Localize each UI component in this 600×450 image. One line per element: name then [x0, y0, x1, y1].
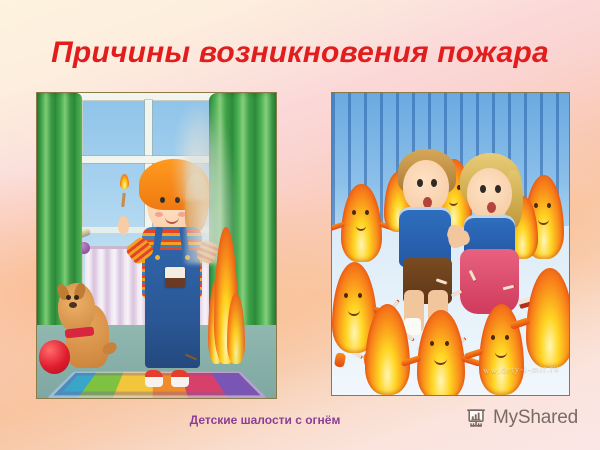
- flame-eye-right: [358, 293, 362, 298]
- flame-mouth: [356, 224, 366, 231]
- flame-eye-left: [430, 341, 434, 346]
- presentation-slide: Причины возникновения пожара: [0, 0, 600, 450]
- boy-sock-left: [404, 318, 421, 336]
- boy-eye-right: [431, 179, 437, 187]
- dog-eye-left: [66, 295, 71, 300]
- red-ball: [39, 340, 70, 374]
- image-children-surrounded-by-flames: ww.dety-i-mir.ru: [331, 92, 570, 396]
- right-scene: ww.dety-i-mir.ru: [332, 93, 569, 395]
- page-title: Причины возникновения пожара: [0, 36, 600, 70]
- flame-eye-right: [445, 341, 449, 346]
- myshared-watermark[interactable]: MyShared: [466, 407, 578, 429]
- matchbox-icon: [165, 267, 185, 286]
- flame-eye-left: [344, 293, 348, 298]
- image-boy-lighting-match-near-curtain: [36, 92, 277, 399]
- girl-pink-skirt: [460, 249, 518, 314]
- myshared-logo-text: MyShared: [493, 407, 578, 429]
- burning-curtain-fire-icon: [207, 227, 248, 364]
- boy-mouth: [423, 197, 432, 208]
- dog-nose: [69, 302, 77, 308]
- flame-eye-left: [352, 210, 356, 215]
- boy-overall-button-left: [155, 255, 160, 260]
- boy-shoe-left: [145, 370, 163, 387]
- flame-eye-left: [534, 203, 538, 208]
- flame-mouth: [434, 358, 446, 365]
- flame-eye-right: [365, 210, 369, 215]
- dog-eye-right: [74, 295, 79, 300]
- flame-eye-right: [547, 203, 551, 208]
- flame-mouth: [348, 309, 360, 316]
- girl-eye-right: [495, 185, 501, 193]
- flame-eye-right: [505, 335, 509, 340]
- dog-head: [58, 283, 95, 333]
- image-caption-text: Детские шалости с огнём: [190, 413, 341, 427]
- left-scene: [37, 93, 276, 398]
- flame-eye-left: [491, 335, 495, 340]
- flipchart-bar-chart-icon: [466, 407, 488, 429]
- boy-shoe-right: [171, 370, 189, 387]
- flame-mouth: [538, 218, 548, 225]
- smoke-cloud-2: [171, 96, 219, 200]
- flame-mouth: [495, 351, 507, 358]
- flame-tongue-right: [227, 293, 245, 364]
- girl-in-pink-skirt: [458, 159, 524, 331]
